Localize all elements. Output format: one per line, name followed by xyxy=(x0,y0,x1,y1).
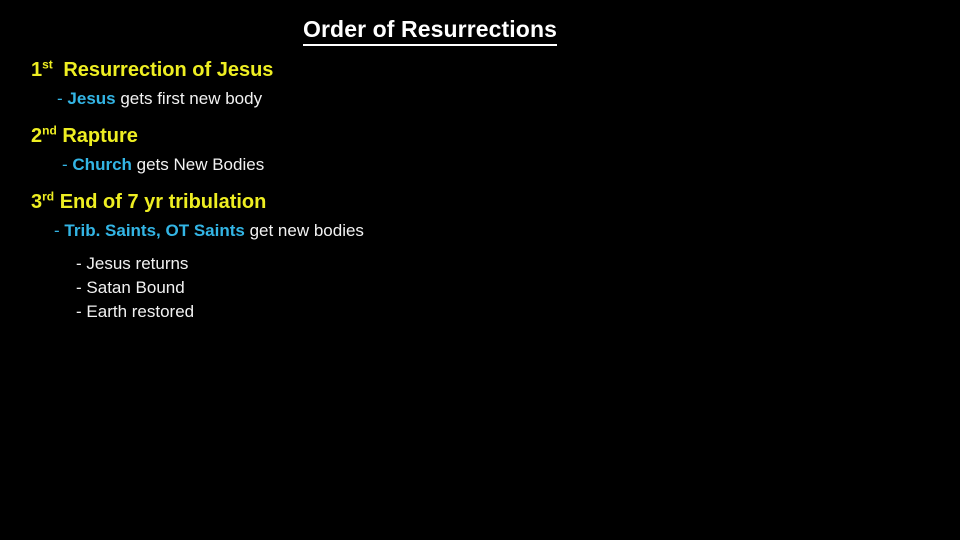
group-1-ordinal-number: 1 xyxy=(31,59,42,81)
group-3-ordinal-suffix: rd xyxy=(42,189,54,203)
group-1-heading: 1st Resurrection of Jesus xyxy=(0,56,960,84)
subbullet-spacer xyxy=(0,243,960,252)
group-3-subbullet-3-text: Earth restored xyxy=(82,302,194,321)
group-2-ordinal-suffix: nd xyxy=(42,123,57,137)
group-3-heading-text: End of 7 yr tribulation xyxy=(60,191,267,213)
group-2-ordinal-number: 2 xyxy=(31,125,42,147)
group-3-subbullet-3: - Earth restored xyxy=(0,300,960,324)
slide-body: 1st Resurrection of Jesus - Jesus gets f… xyxy=(0,56,960,324)
slide-canvas: Order of Resurrections 1st Resurrection … xyxy=(0,0,960,540)
group-gap-2 xyxy=(0,177,960,188)
resurrection-group-1: 1st Resurrection of Jesus - Jesus gets f… xyxy=(0,56,960,111)
page-title: Order of Resurrections xyxy=(0,18,860,41)
group-2-detail-1: - Church gets New Bodies xyxy=(0,152,960,177)
resurrection-group-3: 3rd End of 7 yr tribulation - Trib. Sain… xyxy=(0,188,960,324)
group-3-detail-1: - Trib. Saints, OT Saints get new bodies xyxy=(0,218,960,243)
group-2-detail-1-term: Church xyxy=(72,155,132,174)
group-1-detail-1: - Jesus gets first new body xyxy=(0,86,960,111)
group-1-heading-text: Resurrection of Jesus xyxy=(63,59,273,81)
group-3-detail-1-term: Trib. Saints, OT Saints xyxy=(64,221,244,240)
group-3-subbullet-2-text: Satan Bound xyxy=(82,278,185,297)
group-2-detail-1-rest: gets New Bodies xyxy=(132,155,264,174)
group-3-subbullet-1: - Jesus returns xyxy=(0,252,960,276)
group-3-detail-1-dash: - xyxy=(54,221,60,240)
group-2-heading: 2nd Rapture xyxy=(0,122,960,150)
group-3-subbullet-2: - Satan Bound xyxy=(0,276,960,300)
group-1-ordinal-suffix: st xyxy=(42,57,53,71)
resurrection-group-2: 2nd Rapture - Church gets New Bodies xyxy=(0,122,960,177)
group-3-detail-1-rest: get new bodies xyxy=(245,221,364,240)
group-1-detail-1-rest: gets first new body xyxy=(116,89,262,108)
group-2-heading-text: Rapture xyxy=(62,125,138,147)
group-3-ordinal-number: 3 xyxy=(31,191,42,213)
group-gap-1 xyxy=(0,111,960,122)
group-1-detail-1-term: Jesus xyxy=(67,89,115,108)
page-title-text: Order of Resurrections xyxy=(303,16,557,46)
group-3-subbullet-1-text: Jesus returns xyxy=(82,254,189,273)
group-3-heading: 3rd End of 7 yr tribulation xyxy=(0,188,960,216)
group-1-detail-1-dash: - xyxy=(57,89,63,108)
group-2-detail-1-dash: - xyxy=(62,155,68,174)
